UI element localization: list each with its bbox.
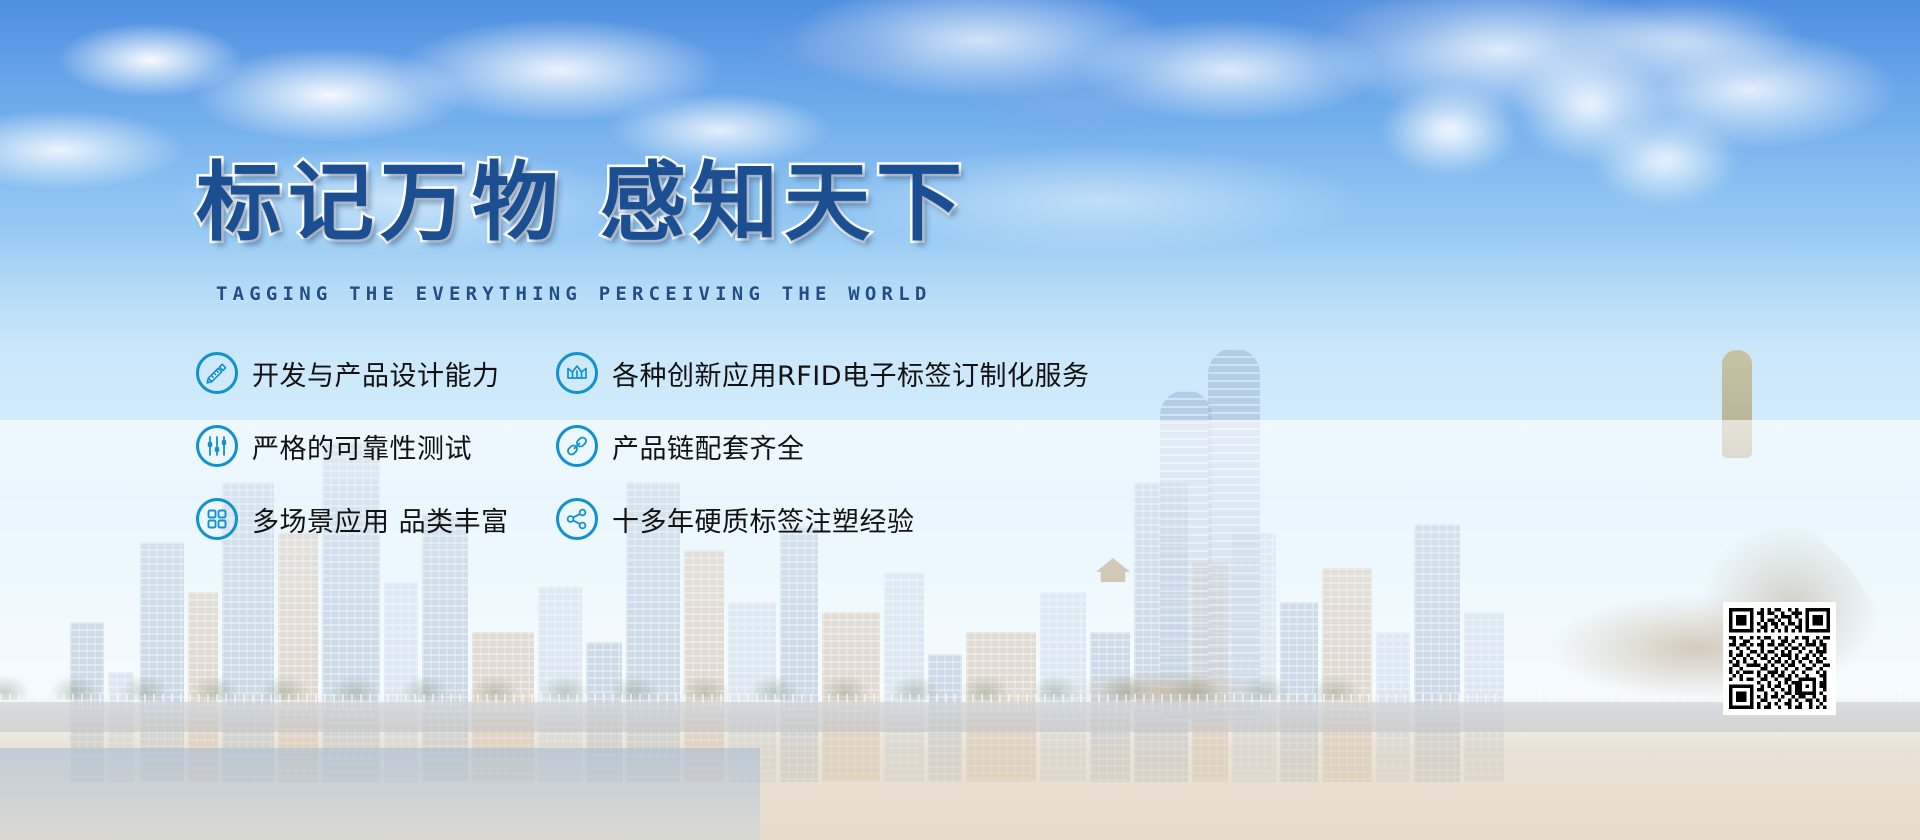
equalizer-sliders-icon bbox=[196, 425, 238, 467]
feature-item: 产品链配套齐全 bbox=[556, 425, 805, 467]
banner-content: 标记万物 感知天下 TAGGING THE EVERYTHING PERCEIV… bbox=[0, 0, 1920, 840]
feature-row: 开发与产品设计能力 各种创新应用RFID电子标签订制化服务 bbox=[196, 352, 1216, 394]
feature-label: 各种创新应用RFID电子标签订制化服务 bbox=[612, 354, 1090, 393]
crown-icon bbox=[556, 352, 598, 394]
feature-row: 多场景应用 品类丰富 十多年硬质标签注塑经验 bbox=[196, 498, 1216, 540]
chain-link-icon bbox=[556, 425, 598, 467]
feature-label: 严格的可靠性测试 bbox=[252, 427, 472, 466]
feature-row: 严格的可靠性测试 产品链配套齐全 bbox=[196, 425, 1216, 467]
page-subtitle: TAGGING THE EVERYTHING PERCEIVING THE WO… bbox=[216, 283, 931, 305]
page-title: 标记万物 感知天下 bbox=[196, 160, 968, 246]
feature-item: 开发与产品设计能力 bbox=[196, 352, 556, 394]
qr-code-graphic bbox=[1729, 608, 1830, 709]
feature-label: 十多年硬质标签注塑经验 bbox=[612, 500, 915, 539]
feature-item: 严格的可靠性测试 bbox=[196, 425, 556, 467]
feature-item: 各种创新应用RFID电子标签订制化服务 bbox=[556, 352, 1090, 394]
feature-label: 多场景应用 品类丰富 bbox=[252, 500, 509, 539]
feature-item: 十多年硬质标签注塑经验 bbox=[556, 498, 915, 540]
ruler-pencil-icon bbox=[196, 352, 238, 394]
feature-label: 产品链配套齐全 bbox=[612, 427, 805, 466]
feature-label: 开发与产品设计能力 bbox=[252, 354, 500, 393]
share-network-icon bbox=[556, 498, 598, 540]
feature-item: 多场景应用 品类丰富 bbox=[196, 498, 556, 540]
hero-banner: 标记万物 感知天下 TAGGING THE EVERYTHING PERCEIV… bbox=[0, 0, 1920, 840]
feature-list: 开发与产品设计能力 各种创新应用RFID电子标签订制化服务 bbox=[196, 352, 1216, 571]
grid-squares-icon bbox=[196, 498, 238, 540]
qr-code[interactable] bbox=[1723, 602, 1836, 715]
